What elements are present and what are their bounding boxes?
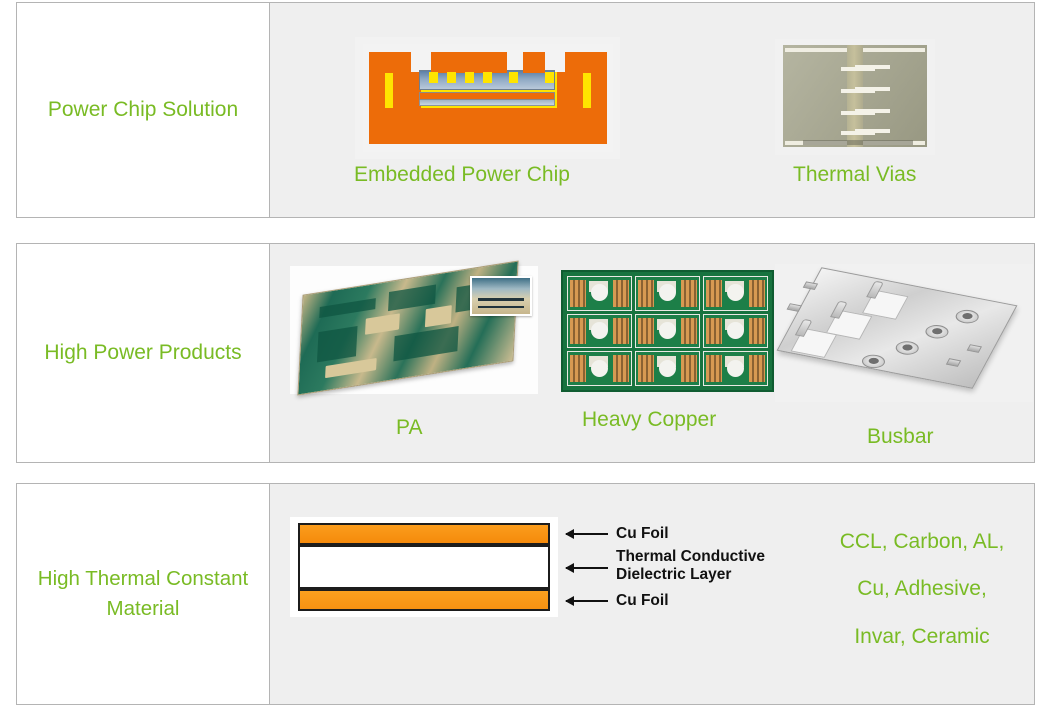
panel-unit — [567, 276, 632, 311]
row-label-text: Power Chip Solution — [48, 95, 238, 125]
caption-embedded-power-chip: Embedded Power Chip — [354, 163, 570, 187]
heavy-copper-trace — [749, 355, 765, 382]
panel-unit — [635, 276, 700, 311]
heavy-copper-trace — [613, 280, 629, 307]
arrow-to-cu-foil-top — [566, 533, 608, 535]
panel-unit — [635, 314, 700, 349]
mounting-hole — [591, 284, 608, 301]
microvia-dot — [483, 72, 492, 83]
heavy-copper-trace — [681, 280, 697, 307]
mounting-hole — [727, 360, 744, 377]
heavy-copper-trace — [681, 355, 697, 382]
busbar-pin — [803, 282, 818, 291]
panel-unit — [703, 351, 768, 386]
busbar-hole — [893, 339, 922, 356]
via-trace — [855, 109, 890, 113]
heavy-copper-trace — [706, 318, 722, 345]
copper-pillar-left — [369, 72, 385, 108]
busbar-image — [775, 264, 1033, 402]
heavy-copper-trace — [570, 318, 586, 345]
row-label-cell-power-chip-solution: Power Chip Solution — [17, 3, 269, 217]
arrow-to-dielectric — [566, 567, 608, 569]
via-trace — [855, 129, 890, 133]
material-list: CCL, Carbon, AL, Cu, Adhesive, Invar, Ce… — [822, 518, 1022, 660]
pa-board-image — [290, 266, 538, 394]
caption-busbar: Busbar — [867, 425, 934, 449]
heavy-copper-trace — [570, 355, 586, 382]
annotation-dielectric-line1: Thermal Conductive — [616, 548, 765, 566]
pcb-trace — [388, 284, 436, 311]
microvia-dot — [465, 72, 474, 83]
table-row-power-chip-solution: Power Chip Solution — [16, 2, 1035, 218]
caption-thermal-vias: Thermal Vias — [793, 163, 916, 187]
copper-pillar-mid-right — [557, 72, 583, 108]
row-label-text: High Power Products — [44, 338, 241, 368]
pcb-trace — [394, 326, 460, 362]
busbar-pin — [946, 358, 961, 367]
panel-unit — [703, 276, 768, 311]
microvia-dot — [447, 72, 456, 83]
heavy-copper-trace — [749, 280, 765, 307]
embedded-power-chip-diagram — [355, 37, 620, 159]
copper-top-segment-1 — [369, 52, 411, 73]
image-shadow — [803, 140, 913, 145]
busbar-pin — [787, 304, 802, 313]
pa-cross-section-inset — [470, 276, 532, 316]
copper-top-segment-4 — [565, 52, 607, 73]
row-content-high-power-products: PA Heavy Copper Busbar — [269, 244, 1034, 462]
layer-dielectric — [298, 545, 550, 589]
caption-heavy-copper: Heavy Copper — [582, 408, 716, 432]
microvia-dot — [545, 72, 554, 83]
heavy-copper-trace — [638, 355, 654, 382]
panel-unit — [567, 351, 632, 386]
power-solutions-table: Power Chip Solution — [0, 0, 1048, 707]
copper-base-layer — [369, 106, 607, 144]
row-label-text-line2: Material — [107, 594, 180, 624]
thermal-vias-image — [775, 39, 935, 155]
die-shadow-layer — [419, 99, 555, 106]
pcb-trace — [317, 326, 357, 362]
via-trace — [855, 87, 890, 91]
heavy-copper-trace — [706, 355, 722, 382]
row-label-cell-high-thermal-constant-material: High Thermal Constant Material — [17, 484, 269, 704]
annotation-dielectric-line2: Dielectric Layer — [616, 566, 731, 584]
mounting-hole — [591, 360, 608, 377]
table-row-high-power-products: High Power Products — [16, 243, 1035, 463]
embedded-power-chip-canvas — [363, 44, 613, 152]
panel-unit — [567, 314, 632, 349]
via-trace — [855, 65, 890, 69]
copper-pillar-mid-left — [393, 72, 421, 108]
row-content-power-chip-solution: Embedded Power Chip Thermal Vias — [269, 3, 1034, 217]
copper-pillar-right — [591, 72, 607, 108]
microvia-dot — [429, 72, 438, 83]
row-content-high-thermal-constant-material: Cu Foil Thermal Conductive Dielectric La… — [269, 484, 1034, 704]
inset-layer-line — [478, 298, 524, 301]
table-row-high-thermal-constant-material: High Thermal Constant Material Cu Foil T… — [16, 483, 1035, 705]
heavy-copper-panel-image — [561, 270, 774, 392]
busbar-pin — [966, 344, 981, 353]
thermal-vias-substrate — [783, 45, 927, 147]
row-label-cell-high-power-products: High Power Products — [17, 244, 269, 462]
heavy-copper-trace — [570, 280, 586, 307]
mounting-hole — [591, 322, 608, 339]
die-attach-pad — [419, 92, 555, 100]
busbar-hole — [953, 308, 982, 325]
heavy-copper-trace — [638, 280, 654, 307]
heavy-copper-trace — [638, 318, 654, 345]
pcb-pad — [365, 314, 400, 335]
heavy-copper-trace — [681, 318, 697, 345]
annotation-cu-foil-top: Cu Foil — [616, 525, 669, 543]
panel-unit — [635, 351, 700, 386]
material-list-line-3: Invar, Ceramic — [822, 613, 1022, 660]
microvia-dot — [509, 72, 518, 83]
layer-cu-foil-top — [298, 523, 550, 545]
material-list-line-1: CCL, Carbon, AL, — [822, 518, 1022, 565]
heavy-copper-trace — [749, 318, 765, 345]
heavy-copper-trace — [706, 280, 722, 307]
panel-array — [567, 276, 768, 386]
busbar-hole — [860, 353, 889, 370]
caption-pa: PA — [396, 416, 422, 440]
busbar-plate — [777, 267, 1018, 388]
annotation-cu-foil-bottom: Cu Foil — [616, 592, 669, 610]
arrow-to-cu-foil-bottom — [566, 600, 608, 602]
busbar-hole — [923, 323, 952, 340]
layer-cu-foil-bottom — [298, 589, 550, 611]
copper-top-segment-2 — [431, 52, 507, 73]
panel-unit — [703, 314, 768, 349]
heavy-copper-trace — [613, 355, 629, 382]
copper-top-segment-3 — [523, 52, 545, 73]
mounting-hole — [659, 360, 676, 377]
mounting-hole — [659, 322, 676, 339]
mounting-hole — [727, 322, 744, 339]
mounting-hole — [659, 284, 676, 301]
mounting-hole — [727, 284, 744, 301]
heavy-copper-trace — [613, 318, 629, 345]
thermal-stackup-diagram — [290, 517, 558, 617]
pcb-trace — [319, 298, 375, 319]
pcb-pad — [325, 358, 377, 378]
inset-layer-line — [478, 306, 524, 308]
material-list-line-2: Cu, Adhesive, — [822, 565, 1022, 612]
row-label-text-line1: High Thermal Constant — [38, 564, 248, 594]
pcb-pad — [425, 305, 452, 327]
